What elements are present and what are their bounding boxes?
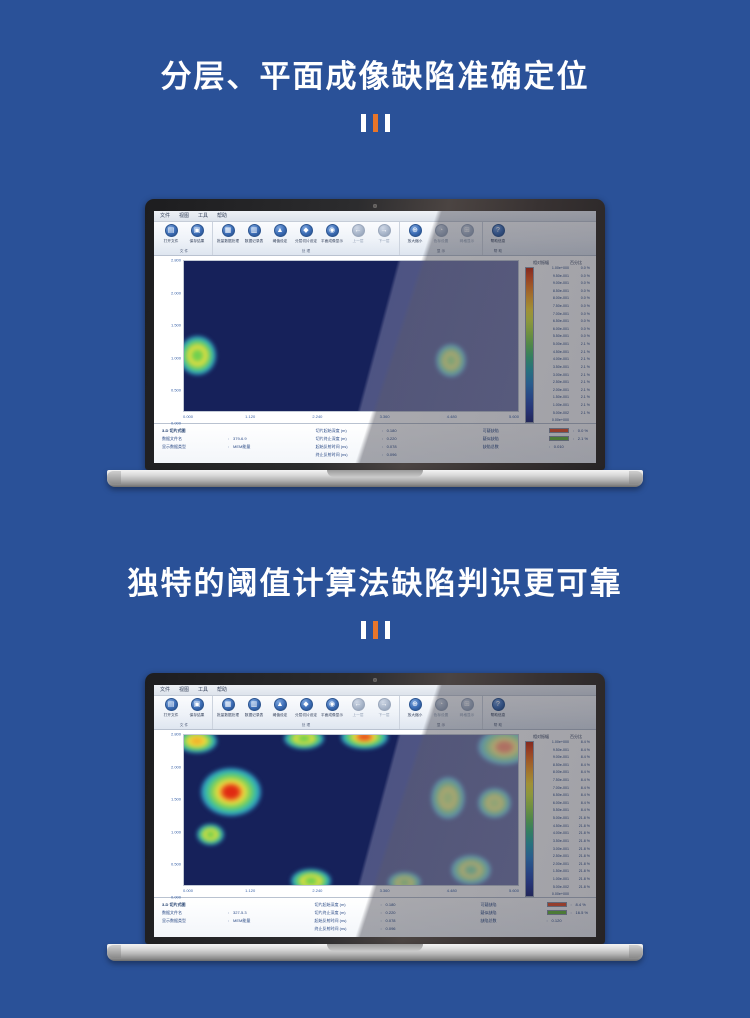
legend-value: 2.00e-001 — [537, 863, 569, 867]
status-row: 显示数据类型:MEM能量 — [162, 917, 305, 924]
heatmap-defect-blob — [284, 734, 324, 749]
legend-percent: 0.0 % — [569, 282, 593, 286]
legend-row: 8.00e-0010.0 % — [537, 297, 593, 301]
status-label: 切片起始深度 (m) — [316, 427, 382, 434]
ribbon-group-caption: 文 件 — [160, 248, 208, 254]
app-window-2: 文件 视图 工具 帮助 ▤打开文件▣保存结果文 件▦批量数据处理▥数据记录表▲阈… — [154, 685, 596, 937]
legend-percent: 21.8 % — [569, 855, 593, 859]
laptop-base-1 — [107, 470, 643, 487]
legend-body-1: 1.00e+0000.0 %9.50e-0010.0 %9.00e-0010.0… — [523, 267, 593, 423]
zoom-icon: ⊕ — [409, 224, 422, 237]
legend-percent: 0.0 % — [569, 335, 593, 339]
colorbar-gradient-2 — [525, 741, 534, 897]
legend-percent: 21.8 % — [569, 848, 593, 852]
menu-item-help-1[interactable]: 帮助 — [217, 211, 227, 222]
x-axis-tick: 2.240 — [312, 414, 322, 419]
legend-value: 3.00e-001 — [537, 374, 569, 378]
status-row: 显示数据类型:MEM能量 — [162, 443, 306, 450]
legend-percent: 8.4 % — [569, 802, 593, 806]
legend-percent: 21.8 % — [569, 886, 593, 890]
toolbar-button-label: 分层切片设定 — [295, 712, 317, 718]
divider-bar-white-right-2 — [385, 621, 390, 639]
legend-row: 6.00e-0018.4 % — [537, 802, 593, 806]
status-col-left-1: 3-D 切片式图数据文件名:379-6.9显示数据类型:MEM能量 — [162, 427, 306, 463]
ribbon-group-2-2: ⊕放大缩小◔色标设置⊞网格显示显 示 — [400, 696, 483, 729]
legend-value: 5.00e-001 — [537, 817, 569, 821]
section-1: 分层、平面成像缺陷准确定位 — [0, 58, 750, 132]
batch-icon: ▦ — [222, 224, 235, 237]
status-title: 3-D 切片式图 — [162, 901, 305, 908]
x-axis-tick: 5.600 — [509, 414, 519, 419]
laptop-2: 文件 视图 工具 帮助 ▤打开文件▣保存结果文 件▦批量数据处理▥数据记录表▲阈… — [107, 673, 643, 961]
laptop-1: 文件 视图 工具 帮助 ▤打开文件▣保存结果文 件▦批量数据处理▥数据记录表▲阈… — [107, 199, 643, 487]
menu-bar-2[interactable]: 文件 视图 工具 帮助 — [154, 685, 596, 696]
legend-row: 4.00e-00121.8 % — [537, 832, 593, 836]
status-value: 0.180 — [387, 427, 397, 434]
toolbar-button-label: 下一层 — [378, 712, 389, 718]
toolbar-button-table-2[interactable]: ▥数据记录表 — [241, 696, 267, 718]
legend-percent: 2.1 % — [569, 412, 593, 416]
status-row: 数据文件名:379-6.9 — [162, 435, 306, 442]
heatmap-defect-blob — [478, 734, 519, 765]
legend-value: 2.50e-001 — [537, 381, 569, 385]
toolbar-button-label: 批量数据处理 — [217, 712, 239, 718]
toolbar-button-save-1[interactable]: ▣保存结果 — [184, 222, 210, 244]
x-axis-tick: 0.000 — [183, 414, 193, 419]
page-title-1: 分层、平面成像缺陷准确定位 — [0, 58, 750, 95]
legend-row: 5.00e-00221.8 % — [537, 886, 593, 890]
status-panel-2: 3-D 切片式图数据文件名:327-5.3显示数据类型:MEM能量 切片起始深度… — [154, 897, 596, 937]
x-axis-tick: 3.360 — [380, 888, 390, 893]
x-axis-tick: 5.600 — [509, 888, 519, 893]
legend-row: 2.50e-0012.1 % — [537, 381, 593, 385]
ribbon-group-0-1: ▤打开文件▣保存结果文 件 — [156, 222, 213, 255]
status-swatch-green — [547, 910, 567, 915]
heatmap-defect-blob — [431, 777, 464, 819]
toolbar-button-label: 下一层 — [378, 238, 389, 244]
toolbar-button-threshold-2[interactable]: ▲阈值设定 — [267, 696, 293, 718]
ribbon-group-caption: 处 理 — [222, 248, 389, 254]
legend-percent: 2.1 % — [569, 366, 593, 370]
legend-row: 4.00e-0012.1 % — [537, 358, 593, 362]
y-axis-tick: 0.000 — [171, 895, 181, 900]
legend-row: 5.50e-0018.4 % — [537, 809, 593, 813]
x-axis-tick: 3.360 — [380, 414, 390, 419]
ribbon-group-1-2: ▦批量数据处理▥数据记录表▲阈值设定◆分层切片设定◉平面成像显示←上一层→下一层… — [213, 696, 400, 729]
legend-percent: 8.4 % — [569, 741, 593, 745]
heading-block-2: 独特的阈值计算法缺陷判识更可靠 — [0, 565, 750, 639]
heatmap-1[interactable] — [183, 260, 519, 412]
status-value: 0.220 — [386, 909, 396, 916]
legend-value: 9.50e-001 — [537, 275, 569, 279]
toolbar-button-zoom-2[interactable]: ⊕放大缩小 — [402, 696, 428, 718]
y-axis-tick: 1.000 — [171, 355, 181, 360]
legend-row: 4.50e-0012.1 % — [537, 351, 593, 355]
y-axis-tick: 2.800 — [171, 258, 181, 263]
legend-row: 2.00e-00121.8 % — [537, 863, 593, 867]
status-value: 0.010 — [554, 443, 564, 450]
ribbon-group-3-2: ?帮助信息帮 助 — [483, 696, 513, 729]
toolbar-button-folder-open-1[interactable]: ▤打开文件 — [158, 222, 184, 244]
status-value: 16.5 % — [576, 909, 588, 916]
toolbar-button-label: 分层切片设定 — [295, 238, 317, 244]
legend-value: 6.50e-001 — [537, 794, 569, 798]
status-value: 8.4 % — [576, 901, 586, 908]
toolbar-button-help-2[interactable]: ?帮助信息 — [485, 696, 511, 718]
legend-value: 8.00e-001 — [537, 771, 569, 775]
toolbar-button-label: 上一层 — [352, 712, 363, 718]
legend-row: 6.50e-0010.0 % — [537, 320, 593, 324]
legend-row: 4.50e-00121.8 % — [537, 825, 593, 829]
toolbar-button-label: 网格显示 — [460, 712, 475, 718]
ribbon-group-0-2: ▤打开文件▣保存结果文 件 — [156, 696, 213, 729]
legend-percent: 2.1 % — [569, 358, 593, 362]
toolbar-ribbon-2[interactable]: ▤打开文件▣保存结果文 件▦批量数据处理▥数据记录表▲阈值设定◆分层切片设定◉平… — [154, 696, 596, 730]
legend-rows-2: 1.00e+0008.4 %9.50e-0018.4 %9.00e-0018.4… — [534, 741, 593, 897]
legend-value: 5.00e-002 — [537, 412, 569, 416]
status-label: 数据文件名 — [162, 909, 228, 916]
status-row: 可疑缺陷:8.4 % — [481, 901, 588, 908]
legend-percent: 0.0 % — [569, 275, 593, 279]
legend-percent: 8.4 % — [569, 794, 593, 798]
x-axis-tick: 4.480 — [447, 888, 457, 893]
toolbar-button-batch-1[interactable]: ▦批量数据处理 — [215, 222, 241, 244]
menu-item-tools-2[interactable]: 工具 — [198, 685, 208, 696]
legend-value: 7.00e-001 — [537, 787, 569, 791]
laptop-lid-1: 文件 视图 工具 帮助 ▤打开文件▣保存结果文 件▦批量数据处理▥数据记录表▲阈… — [145, 199, 605, 470]
arrow-left-icon: ← — [352, 224, 365, 237]
x-axis-1: 0.0001.1202.2403.3604.4805.600 — [183, 412, 519, 423]
arrow-right-icon: → — [378, 698, 391, 711]
toolbar-button-batch-2[interactable]: ▦批量数据处理 — [215, 696, 241, 718]
status-value: 0.0 % — [578, 427, 588, 434]
divider-1 — [0, 114, 750, 132]
legend-value: 8.50e-001 — [537, 290, 569, 294]
legend-value: 4.50e-001 — [537, 351, 569, 355]
legend-row: 9.50e-0010.0 % — [537, 275, 593, 279]
layer-icon: ◆ — [300, 698, 313, 711]
toolbar-button-layer-1[interactable]: ◆分层切片设定 — [293, 222, 319, 244]
legend-percent: 8.4 % — [569, 779, 593, 783]
status-value: 0.078 — [386, 917, 396, 924]
legend-row: 8.00e-0018.4 % — [537, 771, 593, 775]
toolbar-button-label: 数据记录表 — [245, 712, 263, 718]
legend-percent: 8.4 % — [569, 749, 593, 753]
arrow-left-icon: ← — [352, 698, 365, 711]
ribbon-group-1-1: ▦批量数据处理▥数据记录表▲阈值设定◆分层切片设定◉平面成像显示←上一层→下一层… — [213, 222, 400, 255]
colorbar-gradient-1 — [525, 267, 534, 423]
heatmap-defect-blob — [436, 344, 466, 377]
legend-value: 1.00e+000 — [537, 741, 569, 745]
y-axis-tick: 0.500 — [171, 862, 181, 867]
toolbar-button-arrow-right-1: →下一层 — [371, 222, 397, 244]
legend-value: 1.00e-001 — [537, 404, 569, 408]
ribbon-group-caption: 帮 助 — [486, 722, 510, 728]
status-label: 可疑缺陷 — [481, 901, 547, 908]
save-icon: ▣ — [191, 698, 204, 711]
toolbar-button-label: 保存结果 — [190, 238, 205, 244]
image-icon: ◉ — [326, 698, 339, 711]
plot-column-2: 0.0001.1202.2403.3604.4805.600 — [183, 734, 519, 897]
legend-percent: 21.8 % — [569, 832, 593, 836]
legend-percent: 21.8 % — [569, 870, 593, 874]
toolbar-button-save-2[interactable]: ▣保存结果 — [184, 696, 210, 718]
y-axis-tick: 0.500 — [171, 388, 181, 393]
status-value: 327-5.3 — [233, 909, 247, 916]
legend-row: 7.50e-0018.4 % — [537, 779, 593, 783]
legend-value: 6.50e-001 — [537, 320, 569, 324]
legend-value: 9.00e-001 — [537, 756, 569, 760]
status-label: 疑似缺陷 — [481, 909, 547, 916]
toolbar-button-label: 上一层 — [352, 238, 363, 244]
laptop-foot-right-2 — [629, 945, 643, 958]
promo-page: 分层、平面成像缺陷准确定位 文件 视图 工具 帮助 ▤打开文件▣保存结果文 — [0, 0, 750, 1018]
toolbar-button-label: 阈值设定 — [273, 238, 288, 244]
app-window-1: 文件 视图 工具 帮助 ▤打开文件▣保存结果文 件▦批量数据处理▥数据记录表▲阈… — [154, 211, 596, 463]
legend-row: 1.00e+0008.4 % — [537, 741, 593, 745]
divider-bar-white-left — [361, 114, 366, 132]
status-label: 终止反射时间 (ns) — [316, 451, 382, 458]
menu-item-view-1[interactable]: 视图 — [179, 211, 189, 222]
legend-value: 4.50e-001 — [537, 825, 569, 829]
toolbar-button-label: 帮助信息 — [491, 238, 506, 244]
toolbar-button-palette-1: ◔色标设置 — [428, 222, 454, 244]
heading-block-1: 分层、平面成像缺陷准确定位 — [0, 58, 750, 132]
status-row: 终止反射时间 (ns):0.096 — [315, 925, 467, 932]
legend-value: 5.00e-002 — [537, 886, 569, 890]
menu-item-file-2[interactable]: 文件 — [160, 685, 170, 696]
toolbar-button-image-2[interactable]: ◉平面成像显示 — [319, 696, 345, 718]
toolbar-button-label: 网格显示 — [460, 238, 475, 244]
legend-percent: 2.1 % — [569, 404, 593, 408]
legend-percent: 0.0 % — [569, 328, 593, 332]
legend-row: 9.00e-0010.0 % — [537, 282, 593, 286]
y-axis-tick: 1.500 — [171, 797, 181, 802]
legend-percent: 2.1 % — [569, 351, 593, 355]
toolbar-button-label: 阈值设定 — [273, 712, 288, 718]
ribbon-group-buttons-2-2: ⊕放大缩小◔色标设置⊞网格显示 — [402, 696, 480, 722]
status-row: 终止反射时间 (ns):0.096 — [316, 451, 469, 458]
laptop-screen-1: 文件 视图 工具 帮助 ▤打开文件▣保存结果文 件▦批量数据处理▥数据记录表▲阈… — [154, 211, 596, 463]
y-axis-tick: 1.000 — [171, 829, 181, 834]
legend-row: 1.00e+0000.0 % — [537, 267, 593, 271]
x-axis-tick: 0.000 — [183, 888, 193, 893]
legend-row: 8.50e-0010.0 % — [537, 290, 593, 294]
ribbon-group-buttons-1-2: ▦批量数据处理▥数据记录表▲阈值设定◆分层切片设定◉平面成像显示←上一层→下一层 — [215, 696, 397, 722]
zoom-icon: ⊕ — [409, 698, 422, 711]
menu-item-file-1[interactable]: 文件 — [160, 211, 170, 222]
status-panel-1: 3-D 切片式图数据文件名:379-6.9显示数据类型:MEM能量 切片起始深度… — [154, 423, 596, 463]
status-title: 3-D 切片式图 — [162, 427, 306, 434]
status-row: 数据文件名:327-5.3 — [162, 909, 305, 916]
laptop-foot-left-2 — [107, 945, 121, 958]
menu-item-help-2[interactable]: 帮助 — [217, 685, 227, 696]
plot-area-2: 2.8002.0001.5001.0000.5000.000 0.0001.12… — [157, 734, 519, 897]
ribbon-group-buttons-0-1: ▤打开文件▣保存结果 — [158, 222, 210, 248]
legend-percent: 21.8 % — [569, 817, 593, 821]
legend-value: 1.00e-001 — [537, 878, 569, 882]
ribbon-group-caption: 处 理 — [222, 722, 389, 728]
toolbar-button-label: 帮助信息 — [491, 712, 506, 718]
heatmap-defect-blob — [388, 872, 421, 887]
legend-row: 3.00e-0012.1 % — [537, 374, 593, 378]
webcam-icon-2 — [373, 678, 377, 682]
section-2: 独特的阈值计算法缺陷判识更可靠 — [0, 565, 750, 639]
toolbar-button-image-1[interactable]: ◉平面成像显示 — [319, 222, 345, 244]
heatmap-defect-blob — [183, 734, 217, 753]
menu-bar-1[interactable]: 文件 视图 工具 帮助 — [154, 211, 596, 222]
toolbar-button-zoom-1[interactable]: ⊕放大缩小 — [402, 222, 428, 244]
status-label: 数据文件名 — [162, 435, 228, 442]
screen-glare-1 — [184, 261, 518, 411]
legend-rows-1: 1.00e+0000.0 %9.50e-0010.0 %9.00e-0010.0… — [534, 267, 593, 423]
toolbar-button-label: 平面成像显示 — [321, 712, 343, 718]
table-icon: ▥ — [248, 224, 261, 237]
legend-row: 2.00e-0012.1 % — [537, 389, 593, 393]
status-value: 379-6.9 — [233, 435, 247, 442]
status-row: 切片起始深度 (m):0.180 — [316, 427, 469, 434]
x-axis-tick: 4.480 — [447, 414, 457, 419]
legend-value: 3.00e-001 — [537, 848, 569, 852]
legend-row: 7.50e-0010.0 % — [537, 305, 593, 309]
status-value: 0.180 — [386, 901, 396, 908]
status-label: 3-D 切片式图 — [162, 427, 228, 434]
divider-bar-white-left-2 — [361, 621, 366, 639]
status-value: 0.220 — [387, 435, 397, 442]
menu-item-view-2[interactable]: 视图 — [179, 685, 189, 696]
legend-percent: 2.1 % — [569, 381, 593, 385]
legend-value: 3.50e-001 — [537, 366, 569, 370]
toolbar-button-layer-2[interactable]: ◆分层切片设定 — [293, 696, 319, 718]
status-row: 起始反射时间 (ns):0.078 — [316, 443, 469, 450]
legend-row: 5.00e-00121.8 % — [537, 817, 593, 821]
legend-value: 1.50e-001 — [537, 870, 569, 874]
workspace-1: 2.8002.0001.5001.0000.5000.000 0.0001.12… — [154, 256, 596, 423]
toolbar-ribbon-1[interactable]: ▤打开文件▣保存结果文 件▦批量数据处理▥数据记录表▲阈值设定◆分层切片设定◉平… — [154, 222, 596, 256]
legend-value: 8.50e-001 — [537, 764, 569, 768]
toolbar-button-label: 打开文件 — [164, 712, 179, 718]
toolbar-button-grid-1: ⊞网格显示 — [454, 222, 480, 244]
heatmap-defect-blob — [183, 336, 216, 375]
status-swatch-green — [549, 436, 569, 441]
legend-row: 2.50e-00121.8 % — [537, 855, 593, 859]
status-row: 疑似缺陷:2.1 % — [483, 435, 588, 442]
status-value: 0.120 — [552, 917, 562, 924]
toolbar-button-arrow-right-2: →下一层 — [371, 696, 397, 718]
legend-row: 7.00e-0010.0 % — [537, 313, 593, 317]
laptop-lid-2: 文件 视图 工具 帮助 ▤打开文件▣保存结果文 件▦批量数据处理▥数据记录表▲阈… — [145, 673, 605, 944]
toolbar-button-label: 平面成像显示 — [321, 238, 343, 244]
legend-percent: 0.0 % — [569, 290, 593, 294]
status-label: 切片终止深度 (m) — [316, 435, 382, 442]
legend-value: 5.50e-001 — [537, 335, 569, 339]
heatmap-defect-blob — [197, 824, 224, 845]
table-icon: ▥ — [248, 698, 261, 711]
laptop-screen-2: 文件 视图 工具 帮助 ▤打开文件▣保存结果文 件▦批量数据处理▥数据记录表▲阈… — [154, 685, 596, 937]
legend-row: 5.50e-0010.0 % — [537, 335, 593, 339]
status-swatch-red — [547, 902, 567, 907]
legend-percent: 2.1 % — [569, 389, 593, 393]
legend-value: 5.00e-001 — [537, 343, 569, 347]
image-icon: ◉ — [326, 224, 339, 237]
legend-percent: 0.0 % — [569, 297, 593, 301]
status-label: 终止反射时间 (ns) — [315, 925, 381, 932]
legend-row: 5.00e-0012.1 % — [537, 343, 593, 347]
laptop-base-2 — [107, 944, 643, 961]
status-value: 0.096 — [386, 925, 396, 932]
legend-row: 6.00e-0010.0 % — [537, 328, 593, 332]
toolbar-button-label: 放大缩小 — [408, 712, 423, 718]
toolbar-button-label: 色标设置 — [434, 238, 449, 244]
legend-row: 9.00e-0018.4 % — [537, 756, 593, 760]
menu-item-tools-1[interactable]: 工具 — [198, 211, 208, 222]
heatmap-2[interactable] — [183, 734, 519, 886]
divider-bar-white-right — [385, 114, 390, 132]
save-icon: ▣ — [191, 224, 204, 237]
legend-percent: 2.1 % — [569, 396, 593, 400]
status-swatch-red — [549, 428, 569, 433]
toolbar-button-threshold-1[interactable]: ▲阈值设定 — [267, 222, 293, 244]
legend-percent: 8.4 % — [569, 787, 593, 791]
status-label: 切片终止深度 (m) — [315, 909, 381, 916]
toolbar-button-folder-open-2[interactable]: ▤打开文件 — [158, 696, 184, 718]
status-value: 0.096 — [387, 451, 397, 458]
legend-percent: 2.1 % — [569, 374, 593, 378]
threshold-icon: ▲ — [274, 224, 287, 237]
status-col-mid-1: 切片起始深度 (m):0.180切片终止深度 (m):0.220起始反射时间 (… — [316, 427, 469, 463]
laptop-foot-right-1 — [629, 471, 643, 484]
legend-value: 8.00e-001 — [537, 297, 569, 301]
ribbon-group-buttons-3-2: ?帮助信息 — [485, 696, 511, 722]
status-row: 切片起始深度 (m):0.180 — [315, 901, 467, 908]
legend-row: 1.00e-00121.8 % — [537, 878, 593, 882]
y-axis-2: 2.8002.0001.5001.0000.5000.000 — [157, 734, 183, 897]
toolbar-button-palette-2: ◔色标设置 — [428, 696, 454, 718]
ribbon-group-buttons-1-1: ▦批量数据处理▥数据记录表▲阈值设定◆分层切片设定◉平面成像显示←上一层→下一层 — [215, 222, 397, 248]
ribbon-group-caption: 显 示 — [405, 722, 477, 728]
ribbon-group-caption: 显 示 — [405, 248, 477, 254]
y-axis-tick: 2.800 — [171, 732, 181, 737]
status-row: 疑似缺陷:16.5 % — [481, 909, 588, 916]
status-label: 3-D 切片式图 — [162, 901, 228, 908]
legend-value: 1.00e+000 — [537, 267, 569, 271]
status-label: 起始反射时间 (ns) — [316, 443, 382, 450]
heatmap-defect-blob — [341, 734, 388, 749]
status-row: 可疑缺陷:0.0 % — [483, 427, 588, 434]
status-label: 可疑缺陷 — [483, 427, 549, 434]
status-col-right-2: 可疑缺陷:8.4 %疑似缺陷:16.5 %缺陷总数:0.120 — [481, 901, 588, 937]
toolbar-button-table-1[interactable]: ▥数据记录表 — [241, 222, 267, 244]
legend-percent: 8.4 % — [569, 764, 593, 768]
ribbon-group-caption: 文 件 — [160, 722, 208, 728]
palette-icon: ◔ — [435, 224, 448, 237]
plot-area-1: 2.8002.0001.5001.0000.5000.000 0.0001.12… — [157, 260, 519, 423]
status-label: 缺陷总数 — [483, 443, 549, 450]
legend-value: 1.50e-001 — [537, 396, 569, 400]
legend-row: 6.50e-0018.4 % — [537, 794, 593, 798]
ribbon-group-buttons-0-2: ▤打开文件▣保存结果 — [158, 696, 210, 722]
legend-percent: 0.0 % — [569, 305, 593, 309]
heatmap-defect-blob — [451, 855, 491, 885]
ribbon-group-caption: 帮 助 — [486, 248, 510, 254]
legend-percent: 2.1 % — [569, 343, 593, 347]
legend-row: 1.50e-00121.8 % — [537, 870, 593, 874]
toolbar-button-help-1[interactable]: ?帮助信息 — [485, 222, 511, 244]
legend-row: 9.50e-0018.4 % — [537, 749, 593, 753]
legend-value: 4.00e-001 — [537, 832, 569, 836]
legend-percent: 21.8 % — [569, 825, 593, 829]
folder-open-icon: ▤ — [165, 224, 178, 237]
